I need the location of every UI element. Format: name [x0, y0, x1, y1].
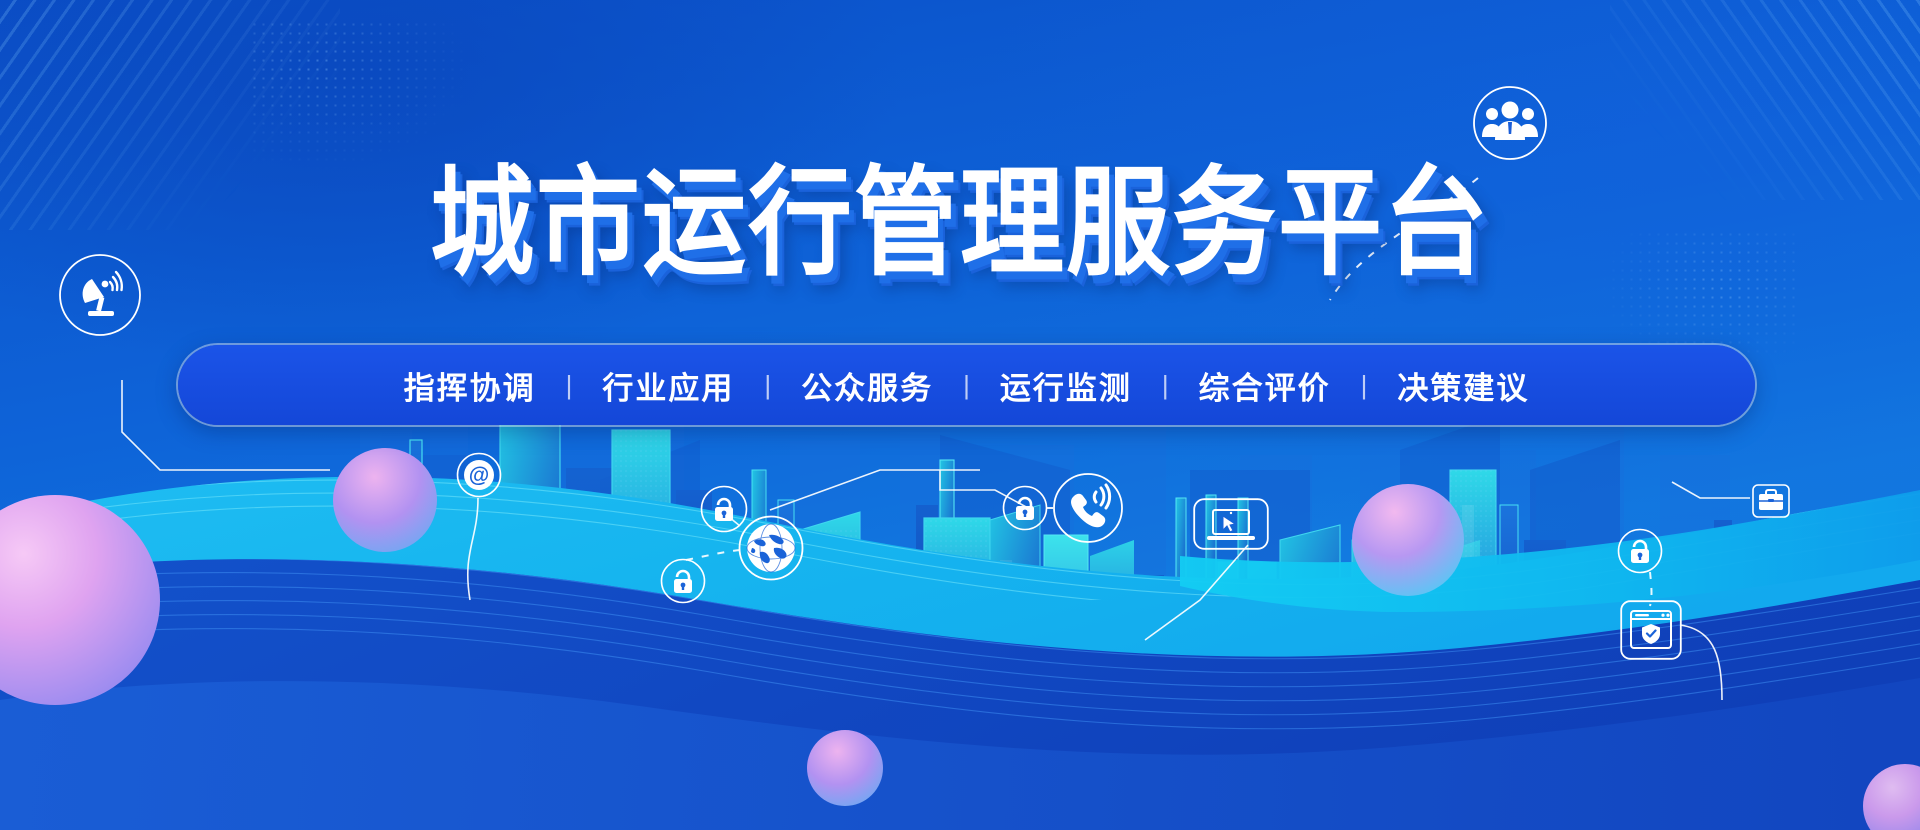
satellite-dish-icon[interactable] — [58, 253, 142, 337]
lock-icon-3[interactable] — [1002, 485, 1048, 531]
lock-badge-4[interactable] — [1617, 528, 1663, 574]
briefcase-icon[interactable] — [1752, 484, 1790, 518]
nav-separator-4: | — [1158, 370, 1173, 401]
people-group-icon[interactable] — [1472, 85, 1548, 161]
nav-separator-5: | — [1357, 370, 1372, 401]
browser-shield-icon[interactable] — [1620, 600, 1682, 660]
lock-icon-2[interactable] — [660, 558, 706, 604]
city-operation-platform-banner: 城市运行管理服务平台 指挥协调 | 行业应用 | 公众服务 | 运行监测 | 综… — [0, 0, 1920, 830]
laptop-cursor-icon[interactable] — [1193, 498, 1269, 550]
nav-separator-2: | — [760, 370, 775, 401]
globe-badge[interactable] — [738, 515, 804, 581]
sphere-bottom — [807, 730, 883, 806]
nav-item-operation-monitoring[interactable]: 运行监测 — [974, 363, 1158, 408]
laptop-cursor-badge[interactable] — [1193, 498, 1269, 550]
nav-item-public-service[interactable]: 公众服务 — [775, 363, 959, 408]
nav-item-decision-advice[interactable]: 决策建议 — [1371, 363, 1555, 408]
nav-separator-3: | — [959, 370, 974, 401]
at-sign-icon[interactable]: @ — [456, 452, 502, 498]
briefcase-badge[interactable] — [1752, 484, 1790, 518]
sphere-mid-left — [333, 448, 437, 552]
satellite-dish-badge[interactable] — [58, 253, 142, 337]
phone-ring-icon[interactable] — [1052, 472, 1124, 544]
nav-item-command-coordination[interactable]: 指挥协调 — [378, 363, 562, 408]
phone-ring-badge[interactable] — [1052, 472, 1124, 544]
lock-badge-2[interactable] — [660, 558, 706, 604]
globe-icon[interactable] — [738, 515, 804, 581]
lock-icon-4[interactable] — [1617, 528, 1663, 574]
nav-item-comprehensive-evaluation[interactable]: 综合评价 — [1173, 363, 1357, 408]
lock-badge-3[interactable] — [1002, 485, 1048, 531]
browser-shield-badge[interactable] — [1620, 600, 1682, 660]
primary-nav[interactable]: 指挥协调 | 行业应用 | 公众服务 | 运行监测 | 综合评价 | 决策建议 — [178, 345, 1755, 425]
svg-text:@: @ — [469, 464, 489, 487]
at-sign-badge[interactable]: @ — [456, 452, 502, 498]
sphere-mid-right — [1352, 484, 1464, 596]
nav-separator-1: | — [562, 370, 577, 401]
people-group-badge[interactable] — [1472, 85, 1548, 161]
nav-item-industry-application[interactable]: 行业应用 — [576, 363, 760, 408]
